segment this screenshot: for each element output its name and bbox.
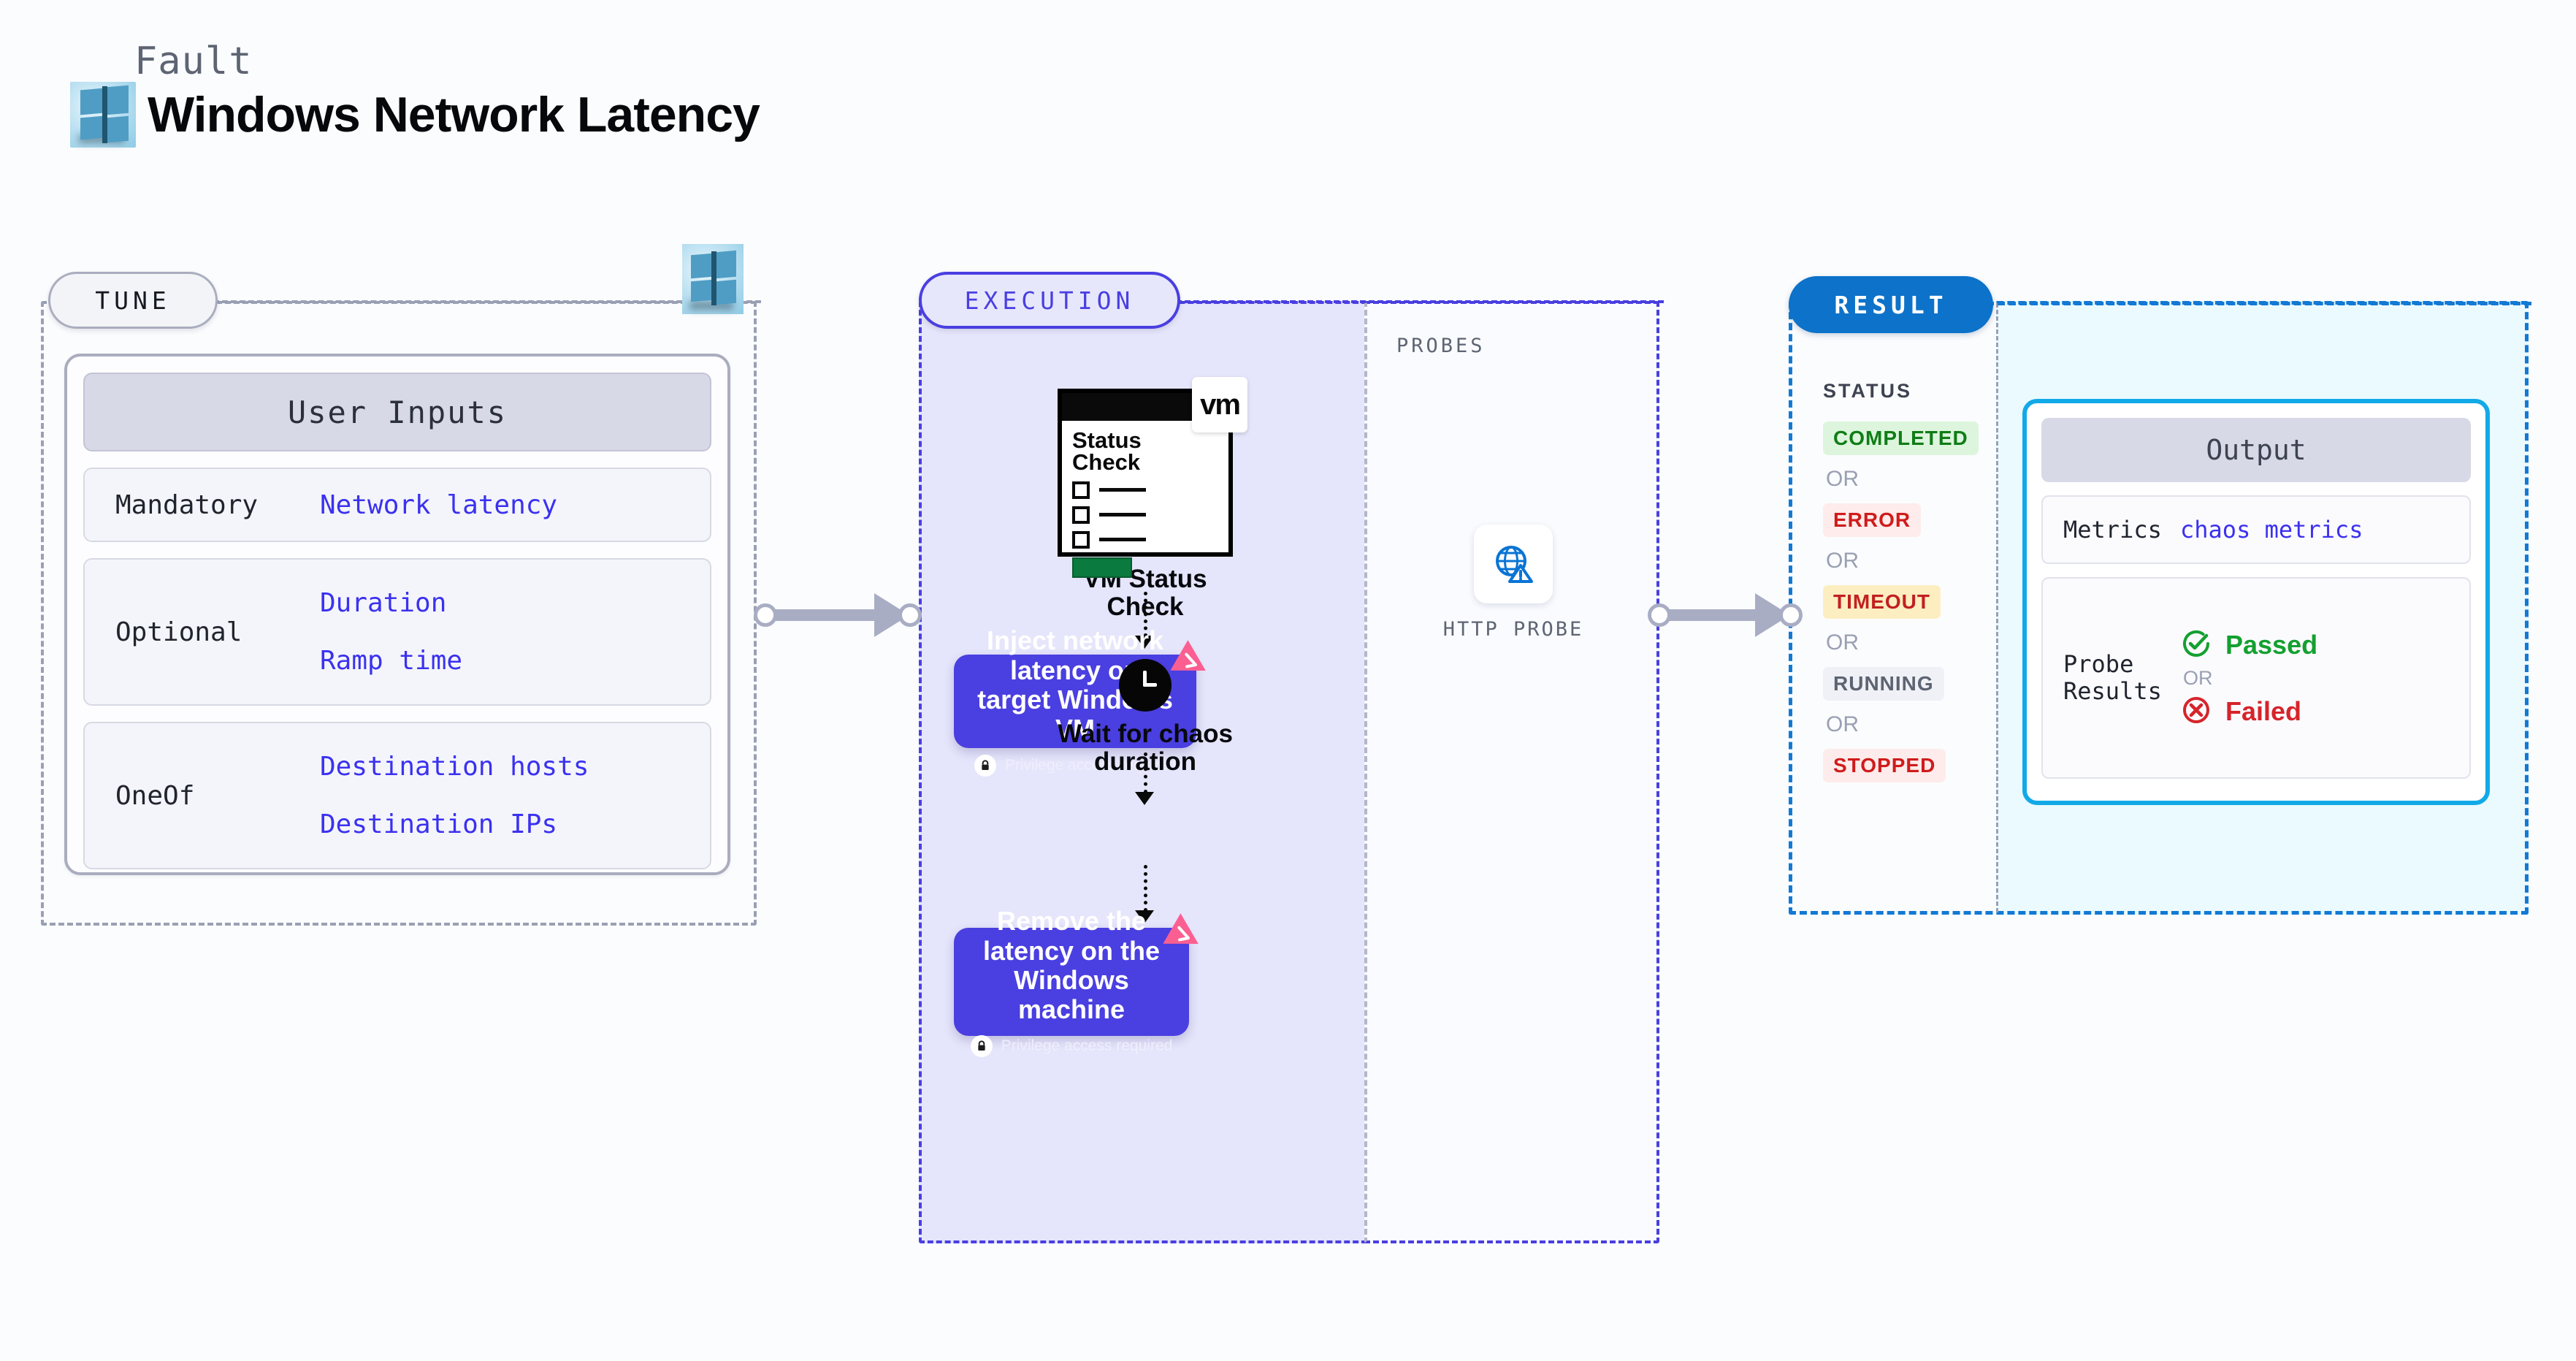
tune-row-mandatory[interactable]: Mandatory Network latency	[83, 468, 711, 542]
flow-arrow-2	[1135, 792, 1154, 805]
lock-icon	[971, 1035, 993, 1057]
section-pill-execution[interactable]: EXECUTION	[919, 272, 1180, 329]
page-title: Windows Network Latency	[148, 86, 760, 143]
vm-status-check-icon: Status Check vm	[1058, 389, 1233, 557]
diagram-canvas: Fault Windows Network Latency TUNE EXECU…	[0, 0, 2576, 1361]
node-wait-for-chaos-duration[interactable]: Wait for chaos duration	[1047, 659, 1244, 776]
section-pill-result[interactable]: RESULT	[1789, 276, 1993, 333]
status-badge-stopped[interactable]: STOPPED	[1823, 749, 1946, 782]
tune-row-optional[interactable]: Optional Duration Ramp time	[83, 558, 711, 706]
execution-region-stub	[1176, 300, 1664, 303]
tune-value[interactable]: Network latency	[320, 490, 557, 520]
node-caption: Remove the latency on the Windows machin…	[970, 907, 1173, 1024]
harness-flag-icon	[1161, 913, 1205, 957]
tune-row-oneof[interactable]: OneOf Destination hosts Destination IPs	[83, 722, 711, 869]
privilege-text: Privilege access required	[1001, 1037, 1173, 1055]
probe-result-passed: Passed	[2180, 628, 2317, 663]
or-separator: OR	[1826, 467, 1991, 492]
user-inputs-card: User Inputs Mandatory Network latency Op…	[64, 354, 730, 875]
failed-label: Failed	[2225, 696, 2301, 727]
passed-label: Passed	[2225, 630, 2317, 660]
section-pill-tune-label: TUNE	[95, 286, 170, 315]
tune-windows-badge-icon	[682, 244, 744, 314]
status-badge-timeout[interactable]: TIMEOUT	[1823, 585, 1941, 619]
probe-result-failed: Failed	[2180, 694, 2317, 729]
flow-line-4	[1144, 865, 1147, 912]
lock-icon	[974, 755, 996, 777]
node-vm-status-check[interactable]: Status Check vm VM Status Check	[1050, 389, 1240, 621]
tune-value[interactable]: Ramp time	[320, 646, 462, 676]
connector-tune-to-execution	[754, 593, 929, 637]
fault-kicker: Fault	[134, 42, 760, 80]
user-inputs-title: User Inputs	[83, 373, 711, 451]
metrics-value[interactable]: chaos metrics	[2180, 516, 2363, 544]
or-separator: OR	[1826, 712, 1991, 737]
probe-http[interactable]: HTTP PROBE	[1437, 525, 1589, 641]
status-badge-error[interactable]: ERROR	[1823, 503, 1921, 537]
section-pill-execution-label: EXECUTION	[965, 286, 1135, 315]
vm-card-line1: Status	[1072, 430, 1218, 451]
tune-row-label: OneOf	[115, 781, 320, 811]
tune-region-stub	[213, 300, 761, 303]
tune-value[interactable]: Destination IPs	[320, 809, 589, 839]
http-probe-globe-icon	[1474, 525, 1553, 603]
node-caption: Wait for chaos duration	[1047, 720, 1244, 776]
tune-row-label: Mandatory	[115, 490, 320, 520]
probes-region	[1364, 301, 1659, 1243]
output-title: Output	[2041, 418, 2471, 482]
privilege-badge: Privilege access required	[971, 1035, 1173, 1057]
tune-value[interactable]: Duration	[320, 588, 462, 618]
section-pill-tune[interactable]: TUNE	[48, 272, 218, 329]
page-header: Fault Windows Network Latency	[70, 42, 760, 148]
tune-value[interactable]: Destination hosts	[320, 752, 589, 782]
vm-card-line2: Check	[1072, 451, 1218, 473]
check-circle-icon	[2180, 628, 2212, 663]
section-pill-result-label: RESULT	[1834, 291, 1947, 319]
result-region-stub	[1987, 302, 2531, 305]
or-separator: OR	[1826, 630, 1991, 655]
windows-logo-icon	[70, 82, 136, 148]
vmware-badge-icon: vm	[1192, 377, 1247, 432]
status-badge-completed[interactable]: COMPLETED	[1823, 422, 1979, 455]
probe-caption: HTTP PROBE	[1437, 618, 1589, 641]
tune-row-label: Optional	[115, 617, 320, 647]
output-card: Output Metrics chaos metrics Probe Resul…	[2022, 399, 2490, 805]
probes-label: PROBES	[1396, 335, 1486, 357]
connector-probes-to-result	[1648, 593, 1810, 637]
status-badge-running[interactable]: RUNNING	[1823, 667, 1944, 701]
output-row-probe-results[interactable]: Probe Results Passed OR	[2041, 577, 2471, 779]
result-status-column: STATUS COMPLETED OR ERROR OR TIMEOUT OR …	[1823, 380, 1991, 782]
result-divider	[1996, 303, 1998, 912]
status-title: STATUS	[1823, 380, 1991, 403]
or-separator: OR	[2183, 667, 2317, 690]
probe-results-label: Probe Results	[2063, 651, 2180, 705]
or-separator: OR	[1826, 549, 1991, 573]
output-row-metrics[interactable]: Metrics chaos metrics	[2041, 495, 2471, 564]
node-remove-latency[interactable]: Remove the latency on the Windows machin…	[954, 928, 1189, 1036]
metrics-label: Metrics	[2063, 516, 2180, 544]
x-circle-icon	[2180, 694, 2212, 729]
execution-flow: Status Check vm VM Status Check Inject n…	[919, 301, 1367, 1243]
clock-icon	[1119, 659, 1172, 712]
